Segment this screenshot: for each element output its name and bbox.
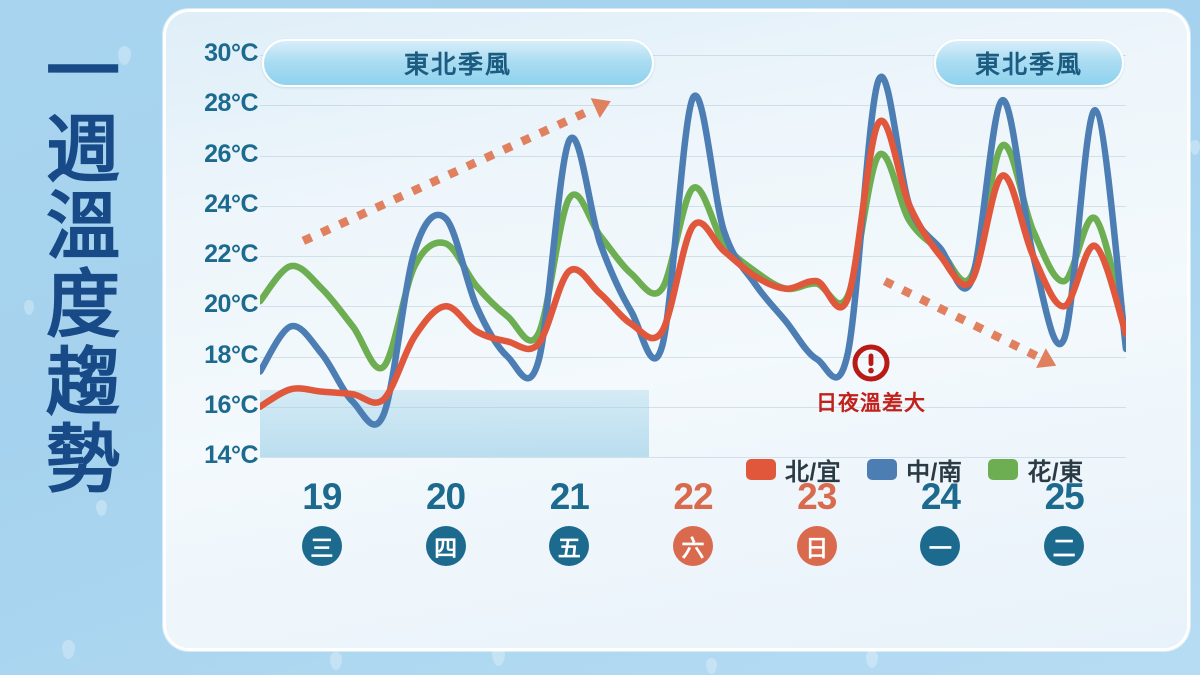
date-column-24[interactable]: 24一 xyxy=(885,478,995,566)
legend-swatch-1 xyxy=(867,459,897,480)
series-line-1 xyxy=(260,77,1126,425)
weekday-badge-19: 三 xyxy=(302,526,342,566)
date-number-21: 21 xyxy=(514,478,624,515)
date-number-22: 22 xyxy=(638,478,748,515)
raindrop-decoration xyxy=(866,650,878,668)
page-title-char-2: 溫 xyxy=(28,189,138,267)
raindrop-decoration xyxy=(330,652,342,670)
raindrop-decoration xyxy=(1190,140,1200,155)
page-title-char-4: 趨 xyxy=(28,345,138,423)
date-number-24: 24 xyxy=(885,478,995,515)
date-column-21[interactable]: 21五 xyxy=(514,478,624,566)
weekday-badge-25: 二 xyxy=(1044,526,1084,566)
page-title-char-5: 勢 xyxy=(28,422,138,500)
page-title: 一週溫度趨勢 xyxy=(28,34,138,500)
weekday-badge-21: 五 xyxy=(549,526,589,566)
series-group xyxy=(260,77,1126,425)
date-axis: 19三20四21五22六23日24一25二 xyxy=(260,478,1126,608)
legend-swatch-0 xyxy=(746,459,776,480)
raindrop-decoration xyxy=(706,658,717,674)
date-column-23[interactable]: 23日 xyxy=(762,478,872,566)
date-column-20[interactable]: 20四 xyxy=(391,478,501,566)
date-number-25: 25 xyxy=(1009,478,1119,515)
date-number-23: 23 xyxy=(762,478,872,515)
page-title-char-0: 一 xyxy=(28,34,138,112)
date-column-22[interactable]: 22六 xyxy=(638,478,748,566)
date-column-19[interactable]: 19三 xyxy=(267,478,377,566)
weekday-badge-20: 四 xyxy=(426,526,466,566)
warning-text: 日夜溫差大 xyxy=(816,387,926,417)
exclamation-circle-icon xyxy=(851,343,891,383)
warning-annotation: 日夜溫差大 xyxy=(776,343,966,417)
page-title-bar: 一週溫度趨勢 xyxy=(0,0,158,675)
page-title-char-1: 週 xyxy=(28,112,138,190)
weekday-badge-24: 一 xyxy=(920,526,960,566)
page-title-char-3: 度 xyxy=(28,267,138,345)
weekday-badge-22: 六 xyxy=(673,526,713,566)
weekday-badge-23: 日 xyxy=(797,526,837,566)
date-column-25[interactable]: 25二 xyxy=(1009,478,1119,566)
date-number-19: 19 xyxy=(267,478,377,515)
legend-swatch-2 xyxy=(988,459,1018,480)
date-number-20: 20 xyxy=(391,478,501,515)
chart-panel: 30°C28°C26°C24°C22°C20°C18°C16°C14°C 東北季… xyxy=(163,9,1190,651)
